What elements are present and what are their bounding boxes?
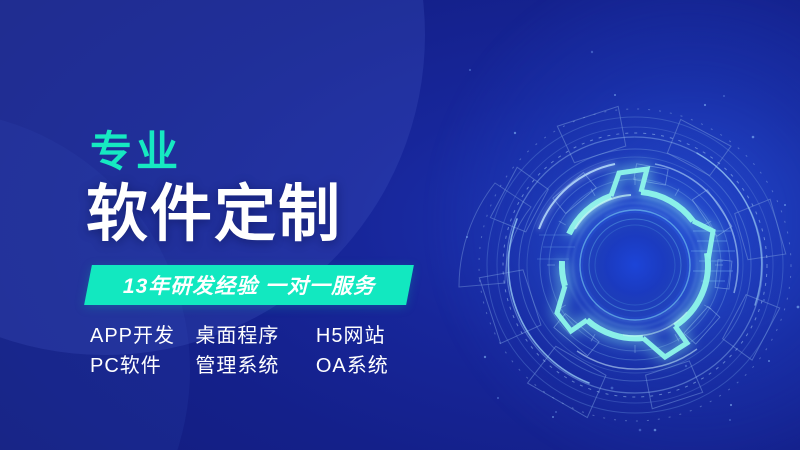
page-title: 软件定制 bbox=[86, 184, 342, 246]
service-item: 管理系统 bbox=[195, 349, 315, 378]
service-item: PC软件 bbox=[90, 349, 195, 378]
service-list: APP开发 桌面程序 H5网站 PC软件 管理系统 OA系统 bbox=[90, 318, 410, 378]
service-item: 桌面程序 bbox=[195, 319, 315, 348]
service-item: APP开发 bbox=[90, 319, 195, 348]
copy-column: 专业 软件定制 13年研发经验 一对一服务 APP开发 桌面程序 H5网站 PC… bbox=[0, 0, 460, 450]
service-item: OA系统 bbox=[316, 349, 410, 378]
service-row: APP开发 桌面程序 H5网站 bbox=[90, 318, 410, 348]
eyebrow-text: 专业 bbox=[90, 131, 182, 173]
tech-circle-graphic bbox=[452, 82, 800, 448]
status-badge: 13年研发经验 一对一服务 bbox=[88, 265, 410, 305]
service-item: H5网站 bbox=[316, 319, 410, 348]
promo-banner: 专业 软件定制 13年研发经验 一对一服务 APP开发 桌面程序 H5网站 PC… bbox=[0, 0, 800, 450]
service-row: PC软件 管理系统 OA系统 bbox=[90, 348, 410, 378]
